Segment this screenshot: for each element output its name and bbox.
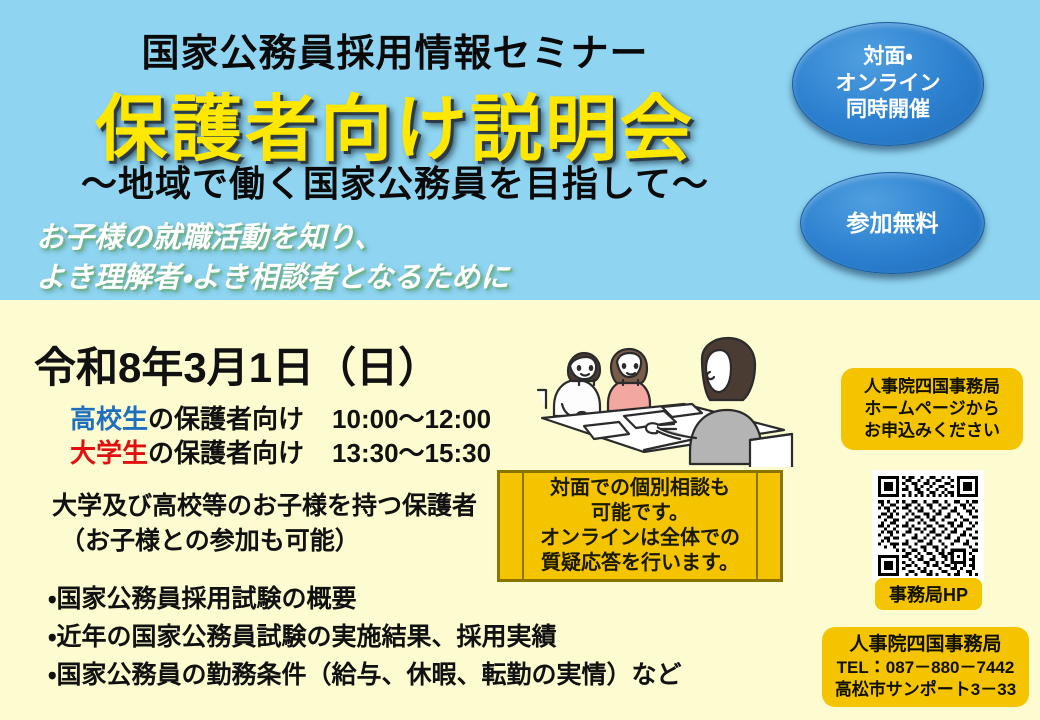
note-line-2: 可能です。 [591,501,689,526]
badge-free-line-1: 参加無料 [847,209,939,238]
consultation-illustration [524,312,804,467]
topics-list: ・国家公務員採用試験の概要 ・近年の国家公務員試験の実施結果、採用実績 ・国家公… [48,580,682,694]
qr-caption-chip[interactable]: 事務局HP [875,578,982,610]
contact-tel: TEL：087－880－7442 [837,657,1015,679]
note-line-1: 対面での個別相談も [550,476,730,501]
note-line-4: 質疑応答を行います。 [541,551,739,576]
consultation-note-box: 対面での個別相談も 可能です。 オンラインは全体での 質疑応答を行います。 [497,470,783,582]
note-box-text: 対面での個別相談も 可能です。 オンラインは全体での 質疑応答を行います。 [524,473,756,579]
session-time: 13:30〜15:30 [332,436,491,470]
apply-line-3: お申込みください [864,420,1000,442]
session-row: 大学生の保護者向け13:30〜15:30 [70,436,491,470]
apply-line-1: 人事院四国事務局 [864,376,1000,398]
session-list: 高校生の保護者向け10:00〜12:00 大学生の保護者向け13:30〜15:3… [70,402,491,471]
target-audience-line-1: 大学及び高校等のお子様を持つ保護者 [52,489,477,524]
contact-address: 高松市サンポート3－33 [835,679,1016,701]
contact-box: 人事院四国事務局 TEL：087－880－7442 高松市サンポート3－33 [822,627,1029,707]
note-box-left-panel [500,473,524,579]
lead-statement: お子様の就職活動を知り、 よき理解者・よき相談者となるために [36,218,509,298]
session-audience-suffix: の保護者向け [148,404,304,434]
seminar-kicker: 国家公務員採用情報セミナー [0,22,790,77]
badge-hybrid-line-2: オンライン [836,71,941,97]
topic-item: ・国家公務員採用試験の概要 [48,580,682,618]
target-audience-line-2: （お子様との参加も可能） [52,524,477,559]
session-audience: 高校生 [70,404,148,434]
session-row: 高校生の保護者向け10:00〜12:00 [70,402,491,436]
session-audience-suffix: の保護者向け [148,438,304,468]
seminar-subtitle: 〜地域で働く国家公務員を目指して〜 [0,155,790,207]
header-band: 国家公務員採用情報セミナー 保護者向け説明会 〜地域で働く国家公務員を目指して〜… [0,0,1040,300]
qr-caption-label: 事務局HP [889,581,968,607]
note-box-right-panel [756,473,780,579]
seminar-poster: 国家公務員採用情報セミナー 保護者向け説明会 〜地域で働く国家公務員を目指して〜… [0,0,1040,720]
session-time: 10:00〜12:00 [332,402,491,436]
apply-line-2: ホームページから [864,398,999,420]
lead-line-1: お子様の就職活動を知り、 [36,218,509,258]
badge-free-admission: 参加無料 [800,172,985,274]
badge-hybrid-line-3: 同時開催 [836,97,941,123]
session-audience: 大学生 [70,438,148,468]
target-audience-block: 大学及び高校等のお子様を持つ保護者 （お子様との参加も可能） [52,489,477,559]
lead-line-2: よき理解者・よき相談者となるために [36,258,509,298]
apply-instructions-box[interactable]: 人事院四国事務局 ホームページから お申込みください [841,368,1023,450]
contact-office-name: 人事院四国事務局 [849,633,1001,657]
note-line-3: オンラインは全体での [540,526,740,551]
event-date: 令和8年3月1日（日） [34,334,440,395]
qr-code[interactable] [872,470,984,582]
badge-hybrid-format: 対面・ オンライン 同時開催 [792,22,984,146]
badge-hybrid-line-1: 対面・ [836,44,941,70]
topic-item: ・近年の国家公務員試験の実施結果、採用実績 [48,618,682,656]
topic-item: ・国家公務員の勤務条件（給与、休暇、転勤の実情）など [48,656,682,694]
